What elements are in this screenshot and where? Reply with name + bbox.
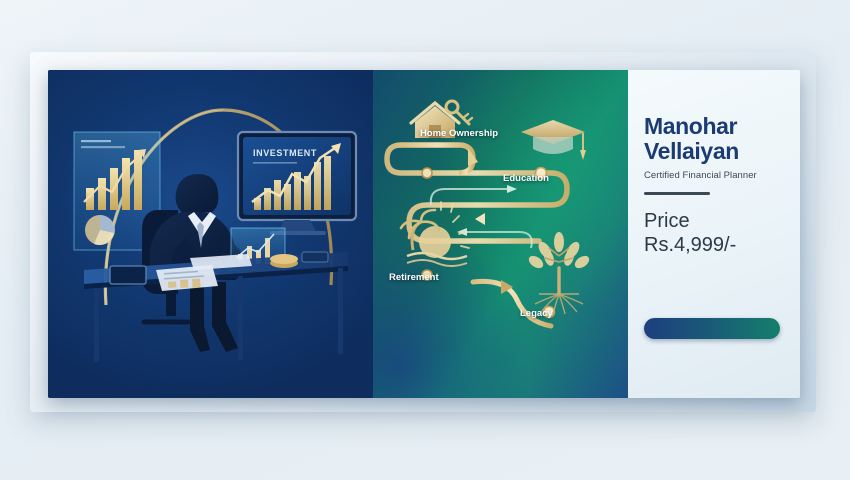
price-label: Price [644, 209, 790, 233]
monitor-heading-text: INVESTMENT [253, 148, 317, 158]
cta-button[interactable] [644, 318, 780, 339]
journey-label-home-ownership: Home Ownership [413, 128, 505, 140]
divider-rule [644, 192, 710, 195]
promo-card: INVESTMENT [48, 70, 800, 398]
advisor-illustration-panel: INVESTMENT [48, 70, 373, 398]
tree-with-roots-icon [527, 232, 592, 314]
screenshot-canvas: INVESTMENT [0, 0, 850, 480]
profile-info-panel: Manohar Vellaiyan Certified Financial Pl… [628, 70, 800, 398]
desktop-monitor: INVESTMENT [238, 132, 356, 235]
advisor-name-line2: Vellaiyan [644, 139, 790, 164]
advisor-name-line1: Manohar [644, 114, 790, 139]
price-block: Price Rs.4,999/- [644, 209, 790, 258]
financial-advisor-scene: INVESTMENT [48, 70, 373, 398]
journey-label-retirement: Retirement [389, 272, 439, 283]
price-value: Rs.4,999/- [644, 233, 790, 258]
advisor-role: Certified Financial Planner [644, 170, 790, 181]
journey-node-home [422, 168, 432, 178]
financial-journey-panel: Home Ownership Education Retirement Lega… [373, 70, 628, 398]
journey-path-graphic [373, 70, 628, 398]
graduation-cap-icon [521, 120, 586, 160]
journey-label-education: Education [503, 173, 549, 184]
journey-label-legacy: Legacy [520, 308, 553, 319]
